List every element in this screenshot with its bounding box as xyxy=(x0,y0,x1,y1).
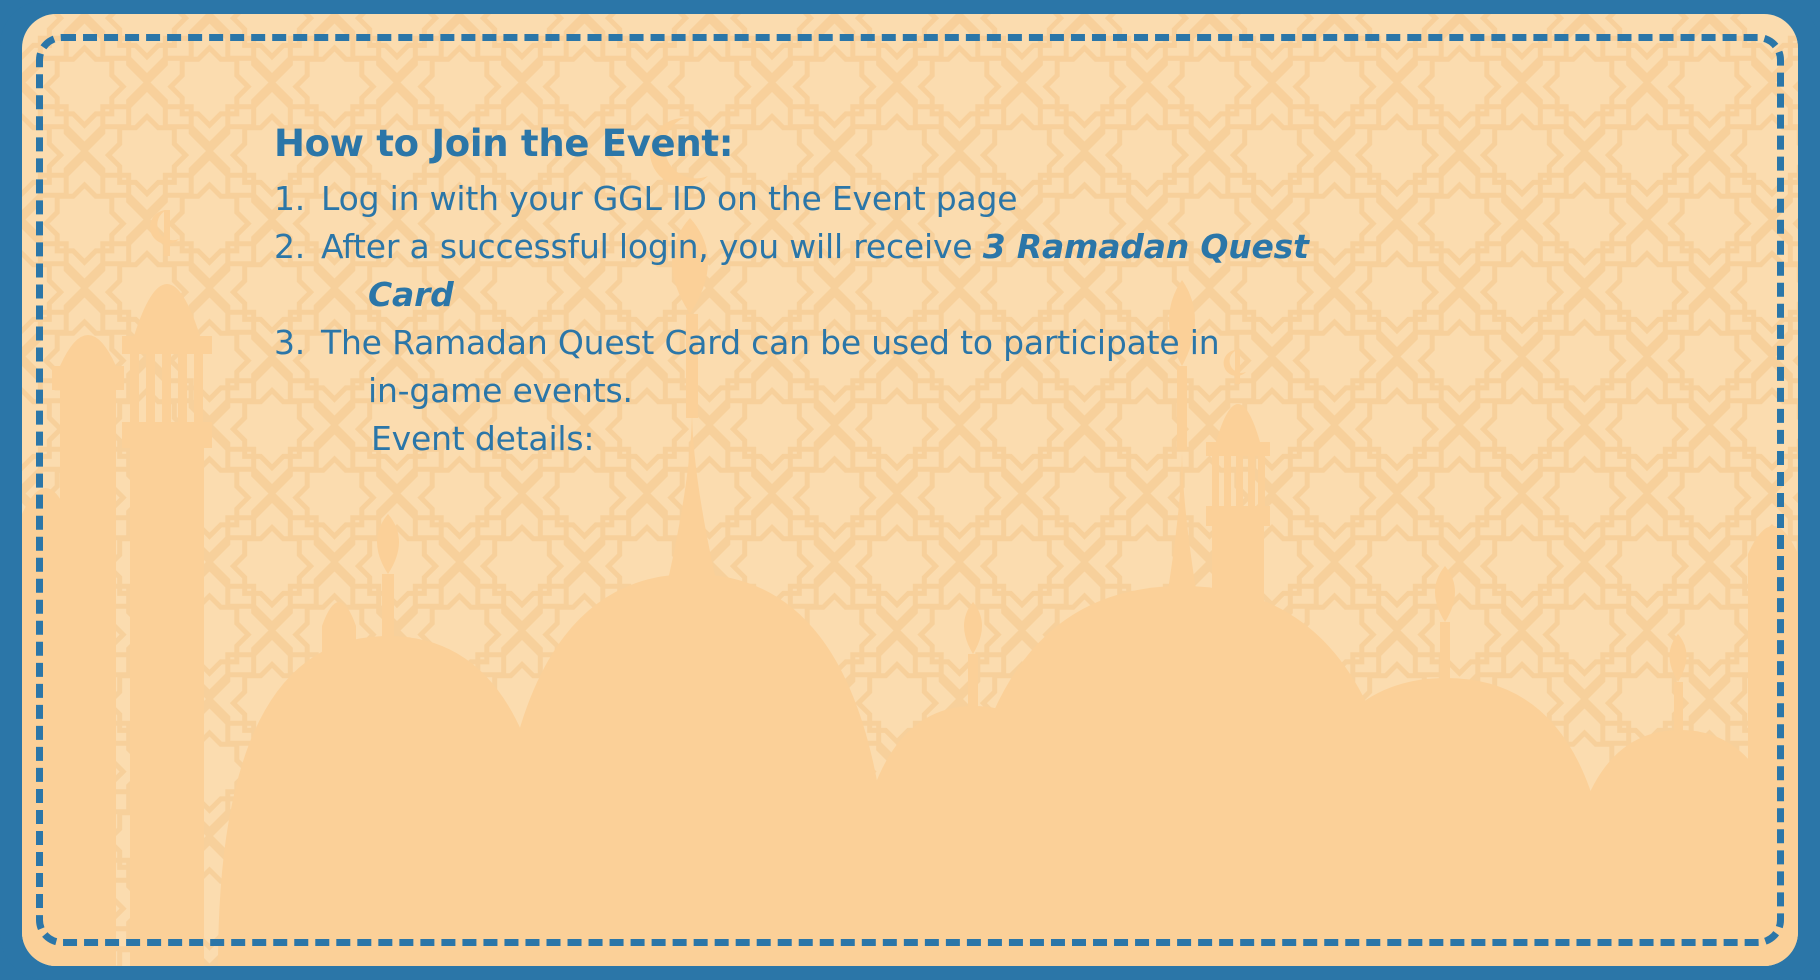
list-item: 1. Log in with your GGL ID on the Event … xyxy=(274,175,1394,223)
list-item: 3. The Ramadan Quest Card can be used to… xyxy=(274,319,1394,463)
step-text: Log in with your GGL ID on the Event pag… xyxy=(321,179,1017,218)
list-item-text: The Ramadan Quest Card can be used to pa… xyxy=(321,319,1394,463)
step-continuation: in-game events. xyxy=(321,367,1394,415)
list-marker: 2. xyxy=(274,223,321,271)
event-details-label: Event details: xyxy=(321,415,1394,463)
mosque-dome-icon xyxy=(1278,566,1614,966)
list-marker: 1. xyxy=(274,175,321,223)
list-item: 2. After a successful login, you will re… xyxy=(274,223,1394,319)
step-text: After a successful login, you will recei… xyxy=(321,227,983,266)
step-highlight: 3 Ramadan Quest xyxy=(983,227,1309,266)
minaret-icon xyxy=(122,210,212,966)
list-item-text: After a successful login, you will recei… xyxy=(321,223,1394,319)
event-card: How to Join the Event: 1. Log in with yo… xyxy=(22,14,1798,966)
step-text: The Ramadan Quest Card can be used to pa… xyxy=(321,323,1219,362)
instructions-block: How to Join the Event: 1. Log in with yo… xyxy=(274,122,1394,463)
ramadan-event-banner: How to Join the Event: 1. Log in with yo… xyxy=(0,0,1820,980)
list-item-text: Log in with your GGL ID on the Event pag… xyxy=(321,175,1394,223)
steps-list: 1. Log in with your GGL ID on the Event … xyxy=(274,175,1394,463)
step-highlight-continuation: Card xyxy=(321,271,1394,319)
page-title: How to Join the Event: xyxy=(274,122,1394,166)
list-marker: 3. xyxy=(274,319,321,367)
